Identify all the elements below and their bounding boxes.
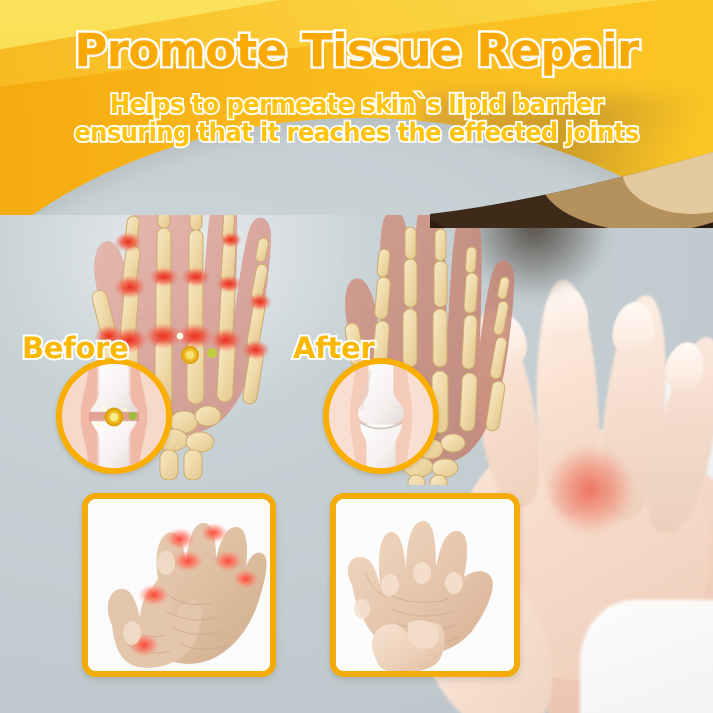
page-title: Promote Tissue Repair — [0, 24, 713, 77]
before-joint-magnifier — [56, 358, 172, 474]
photo-inflammation-highlight — [530, 430, 650, 550]
crystal-deposit-green — [129, 412, 137, 420]
photo-card-after-image — [336, 499, 514, 671]
subtitle-line-2: ensuring that it reaches the effected jo… — [25, 118, 688, 148]
before-label: Before — [22, 331, 128, 365]
subtitle-line-1: Helps to permeate skin`s lipid barrier — [25, 90, 688, 120]
after-joint-magnifier — [323, 358, 439, 474]
inflamed-joint-diagram — [62, 364, 166, 468]
photo-card-before-image — [88, 499, 270, 671]
advertisement-banner: Promote Tissue Repair Helps to permeate … — [0, 0, 713, 713]
healthy-joint-diagram — [329, 364, 433, 468]
photo-card-before — [82, 493, 276, 677]
after-label: After — [293, 331, 374, 365]
photo-card-after — [330, 493, 520, 677]
photo-white-sleeve — [580, 600, 713, 713]
lower-bone — [360, 424, 402, 468]
